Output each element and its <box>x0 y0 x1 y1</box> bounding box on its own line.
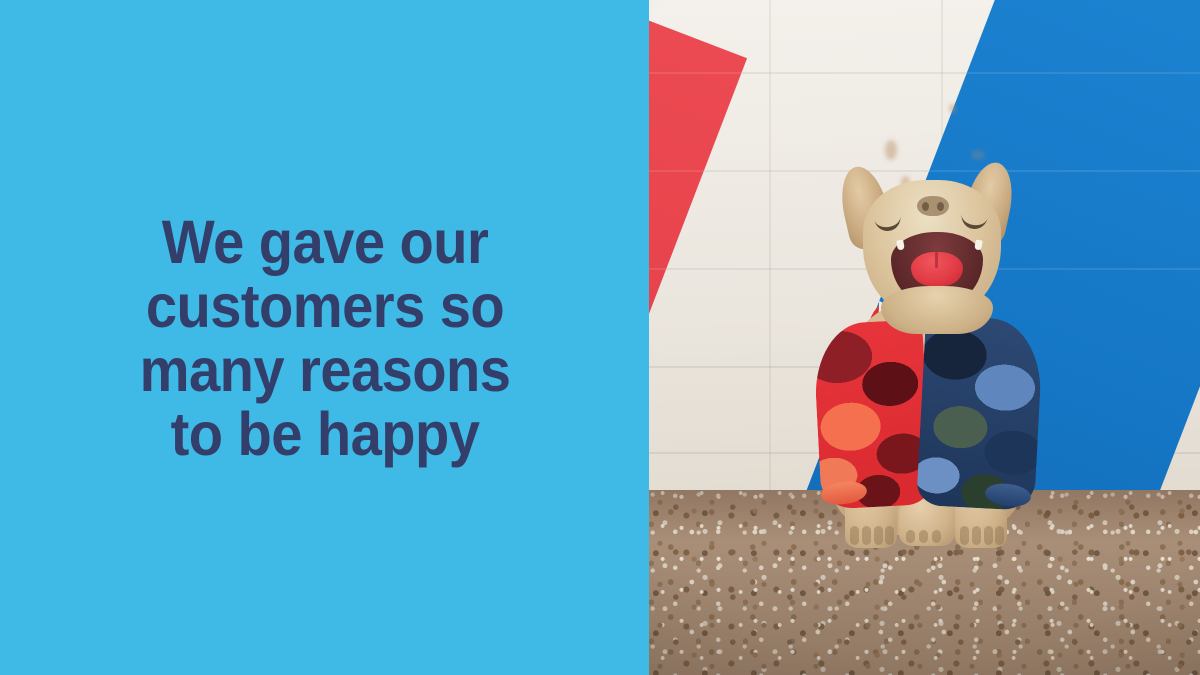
headline-line-4: to be happy <box>127 402 523 466</box>
headline-line-1: We gave our <box>127 210 523 274</box>
headline-line-2: customers so <box>127 274 523 338</box>
slide-canvas: We gave our customers so many reasons to… <box>0 0 1200 675</box>
hoodie-red-camo <box>812 319 932 510</box>
headline: We gave our customers so many reasons to… <box>127 210 523 466</box>
text-panel: We gave our customers so many reasons to… <box>0 0 649 675</box>
dog-nose <box>917 196 949 216</box>
dog-jowl <box>881 286 993 334</box>
french-bulldog <box>649 0 1200 675</box>
headline-line-3: many reasons <box>127 338 523 402</box>
hoodie-blue-camo <box>916 315 1044 511</box>
photo-panel <box>649 0 1200 675</box>
